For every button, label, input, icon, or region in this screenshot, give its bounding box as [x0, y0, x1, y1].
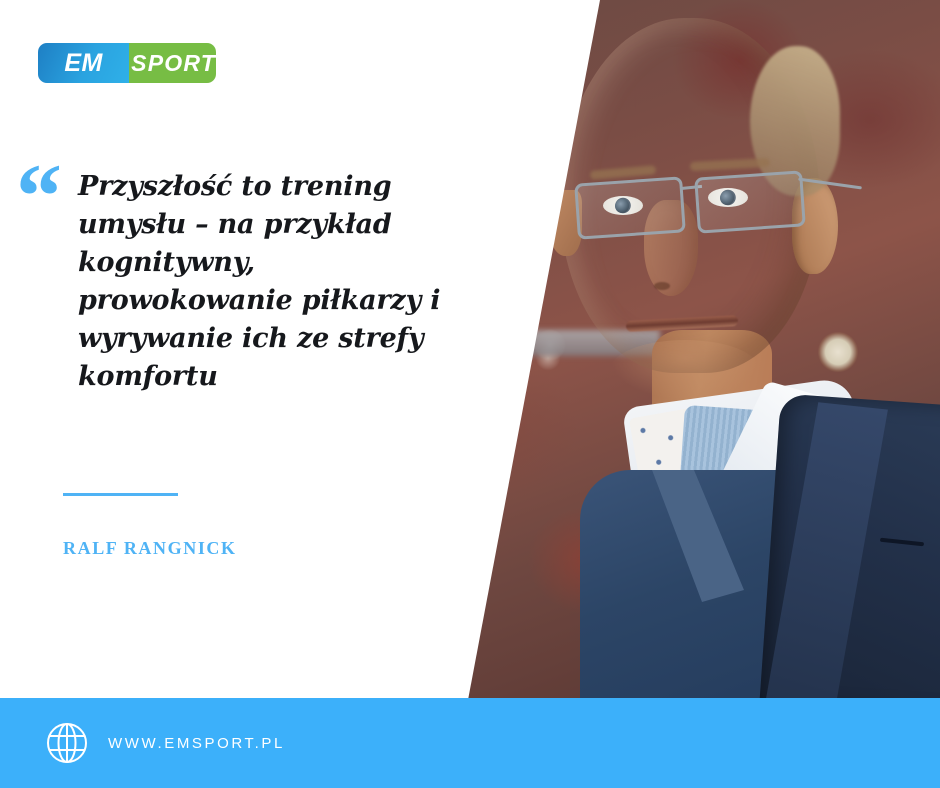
glasses-temple [798, 178, 862, 190]
logo-sport-block: SPORT [129, 43, 216, 83]
quote-card: EM SPORT “ Przyszłość to trening umysłu … [0, 0, 940, 788]
author-name: RALF RANGNICK [63, 538, 237, 559]
logo-sport-text: SPORT [129, 50, 216, 77]
glasses-lens-left [574, 176, 686, 239]
chin [610, 340, 760, 400]
footer-website-url[interactable]: WWW.EMSPORT.PL [108, 735, 285, 752]
footer-bar: WWW.EMSPORT.PL [0, 698, 940, 788]
nostril [654, 282, 670, 290]
emsport-logo[interactable]: EM SPORT [38, 43, 216, 83]
portrait-photo [440, 0, 940, 700]
quote-mark-icon: “ [16, 150, 60, 242]
logo-em-text: EM [64, 49, 103, 78]
quote-text: Przyszłość to trening umysłu – na przykł… [78, 168, 478, 396]
hair [552, 6, 834, 176]
logo-em-block: EM [38, 43, 129, 83]
globe-icon [46, 722, 88, 764]
photo-background [440, 0, 940, 700]
glasses-icon [568, 172, 840, 244]
author-divider [63, 493, 178, 496]
glasses-lens-right [694, 170, 806, 233]
